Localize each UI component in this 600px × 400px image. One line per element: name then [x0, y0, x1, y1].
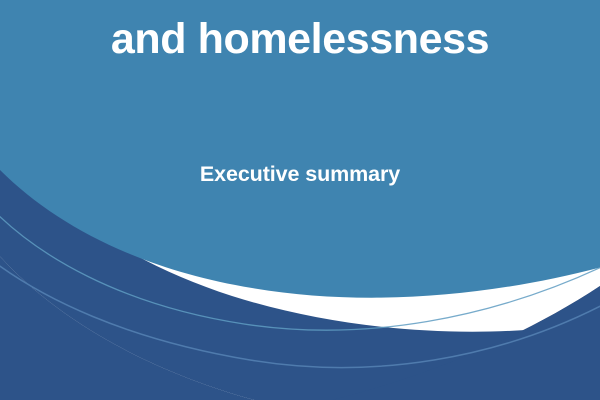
- cover-artwork: [0, 0, 600, 400]
- presentation-slide: and homelessness Executive summary: [0, 0, 600, 400]
